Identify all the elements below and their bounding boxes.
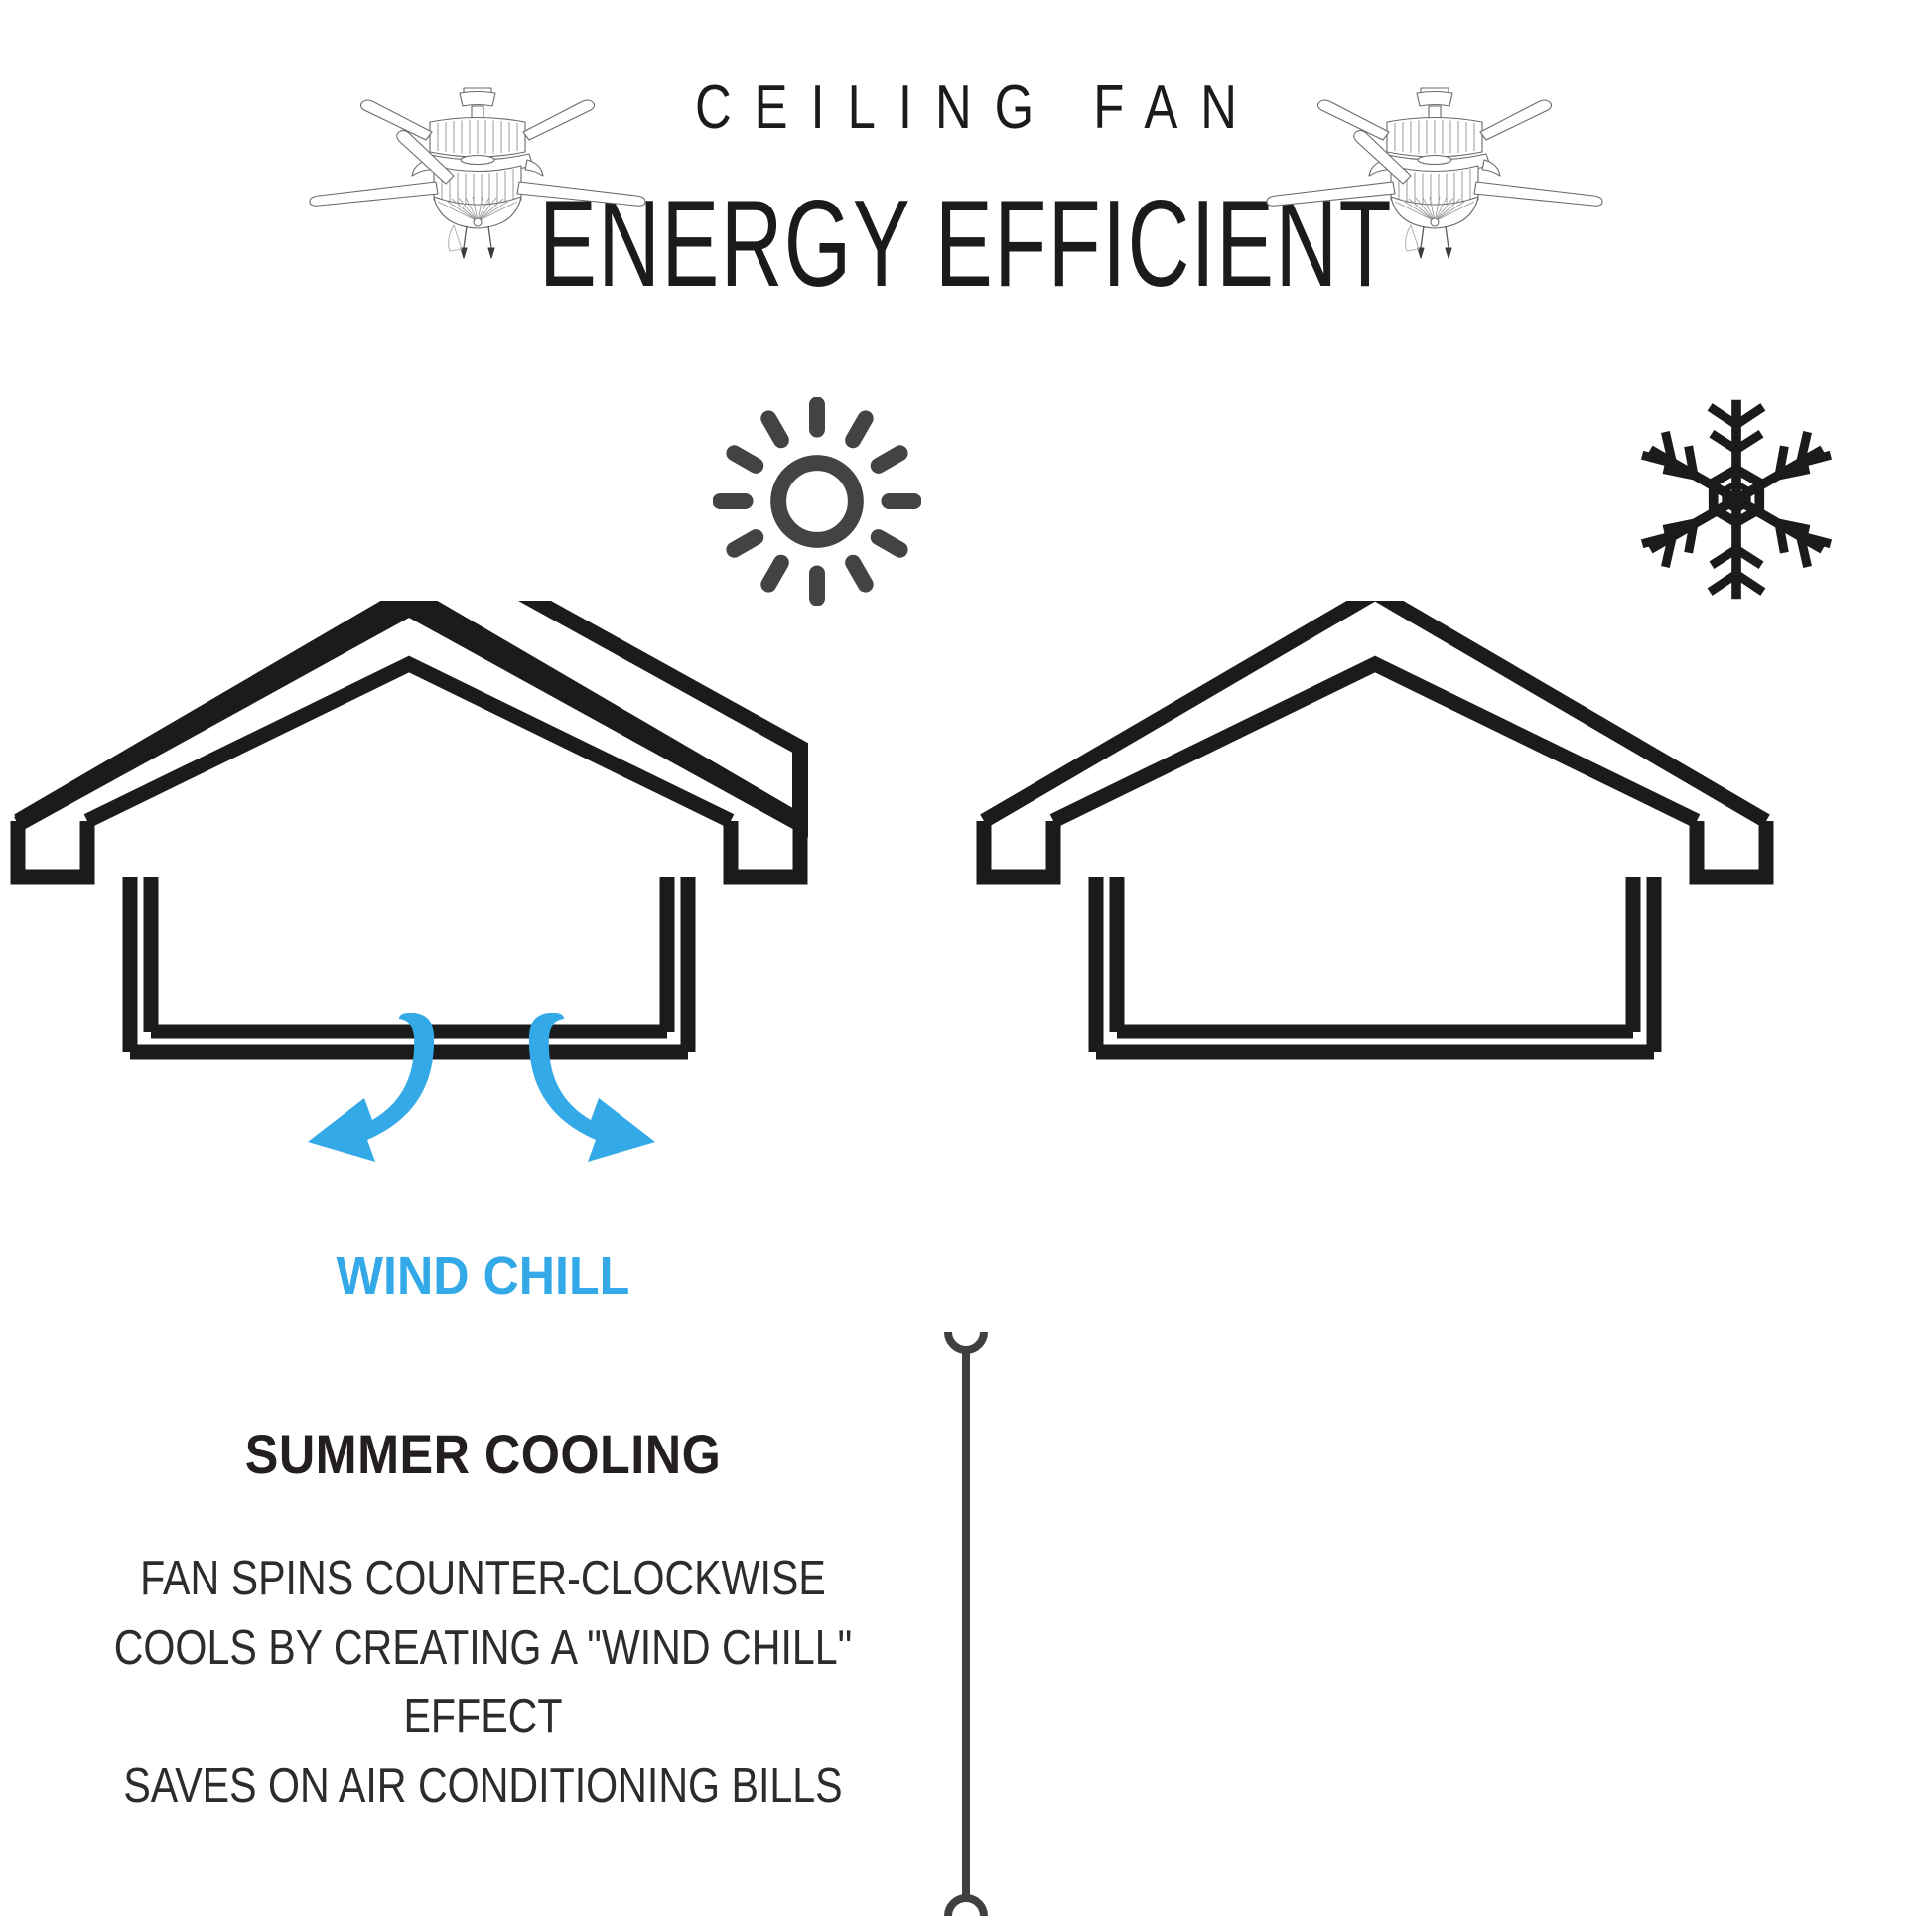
summer-body-line-3: EFFECT bbox=[77, 1683, 889, 1752]
ceiling-fan-illustration-winter bbox=[1236, 84, 1633, 308]
heading-summer-cooling: SUMMER COOLING bbox=[49, 1422, 918, 1486]
airflow-arrows-summer bbox=[218, 1013, 745, 1246]
house-outline-winter bbox=[966, 601, 1932, 1092]
ceiling-fan-illustration-summer bbox=[279, 84, 676, 308]
summer-body-line-2: COOLS BY CREATING A "WIND CHILL" bbox=[77, 1614, 889, 1684]
panel-winter: RECIRCULATES HEAT FORCING AIR DOWN WINTE… bbox=[966, 0, 1932, 1932]
panel-summer: WIND CHILL SUMMER COOLING FAN SPINS COUN… bbox=[0, 0, 966, 1932]
body-summer-cooling: FAN SPINS COUNTER-CLOCKWISE COOLS BY CRE… bbox=[77, 1545, 889, 1821]
wind-chill-line-1: WIND CHILL bbox=[34, 1246, 932, 1306]
center-divider bbox=[943, 1326, 989, 1922]
summer-body-line-4: SAVES ON AIR CONDITIONING BILLS bbox=[77, 1752, 889, 1822]
wind-chill-label: WIND CHILL bbox=[34, 1246, 932, 1306]
summer-body-line-1: FAN SPINS COUNTER-CLOCKWISE bbox=[77, 1545, 889, 1614]
